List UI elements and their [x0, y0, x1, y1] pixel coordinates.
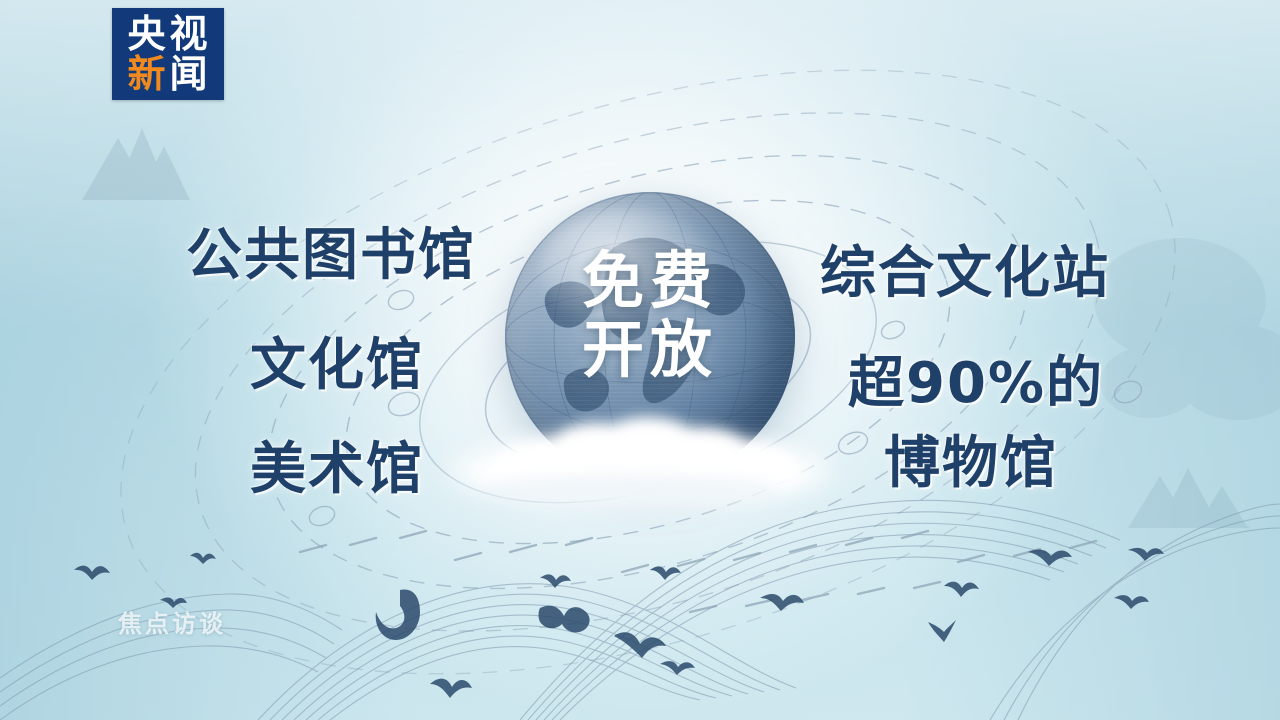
logo-char-wen: 闻	[168, 55, 210, 93]
program-watermark: 焦点访谈	[118, 604, 226, 639]
cctv-news-logo: 央 视 新 闻	[112, 8, 224, 100]
left-item-2: 文化馆	[250, 338, 424, 394]
logo-char-shi: 视	[168, 15, 210, 53]
left-item-1: 公共图书馆	[186, 228, 476, 284]
center-caption: 免费 开放	[505, 246, 795, 385]
center-caption-line2: 开放	[505, 315, 795, 384]
right-item-2: 超90%的	[848, 356, 1104, 412]
left-item-3: 美术馆	[250, 442, 424, 498]
right-item-3: 博物馆	[884, 436, 1058, 492]
logo-line-2: 新 闻	[126, 55, 210, 93]
logo-char-yang: 央	[126, 15, 168, 53]
broadcast-graphic: 免费 开放 公共图书馆 文化馆 美术馆	[0, 0, 1280, 720]
logo-char-xin: 新	[126, 55, 168, 93]
right-item-1: 综合文化站	[820, 246, 1110, 302]
center-caption-line1: 免费	[505, 246, 795, 315]
logo-line-1: 央 视	[126, 15, 210, 53]
